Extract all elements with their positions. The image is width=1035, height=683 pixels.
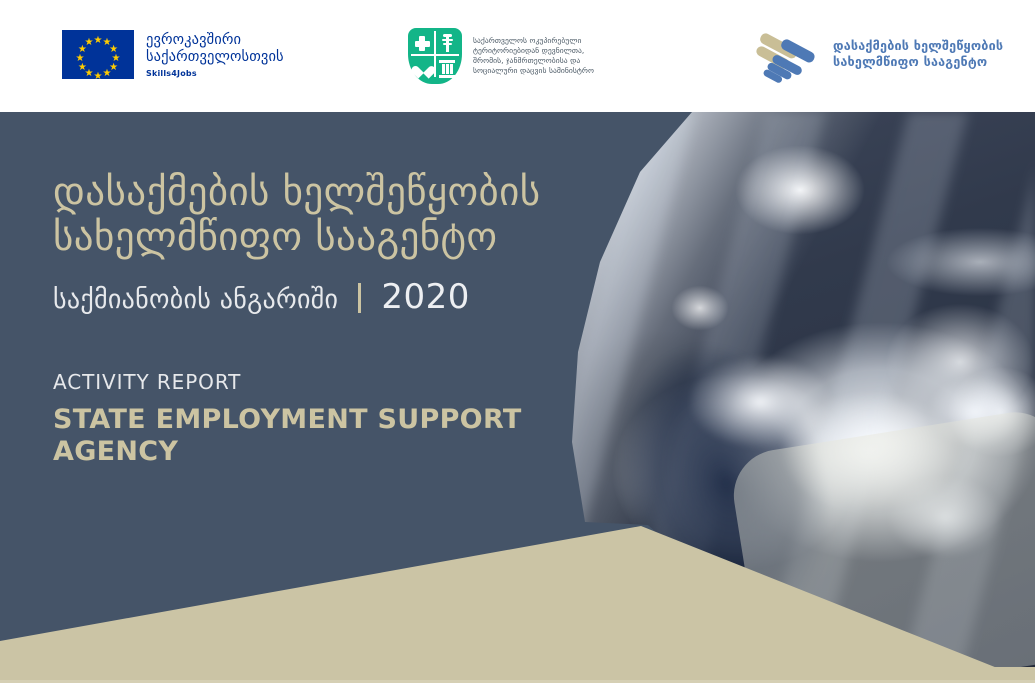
ministry-line-1: საქართველოს ოკუპირებული [473, 36, 594, 46]
handshake-icon [755, 27, 821, 81]
ministry-line-4: სოციალური დაცვის სამინისტრო [473, 66, 594, 76]
ministry-logo: საქართველოს ოკუპირებული ტერიტორიებიდან დ… [408, 28, 594, 84]
report-year: 2020 [381, 281, 470, 313]
eu-line-1: ევროკავშირი [146, 32, 284, 49]
pillar-icon [439, 60, 455, 63]
subtitle-en: ACTIVITY REPORT [53, 369, 613, 395]
ministry-line-3: შრომის, ჯანმრთელობისა და [473, 56, 594, 66]
agency-line-1: დასაქმების ხელშეწყობის [833, 38, 1003, 54]
logo-bar: ★ ★ ★ ★ ★ ★ ★ ★ ★ ★ ★ ★ ევროკავშირი საქა… [0, 0, 1035, 112]
subtitle-ka: საქმიანობის ანგარიში [53, 284, 338, 316]
hero-text-block: დასაქმების ხელშეწყობის სახელმწიფო სააგენ… [53, 170, 613, 468]
eu-line-2: საქართველოსთვის [146, 49, 284, 66]
eu-tagline: Skills4Jobs [146, 69, 284, 78]
title-ka-line-2: სახელმწიფო სააგენტო [53, 215, 613, 260]
heart-icon [416, 61, 431, 75]
subtitle-divider [358, 283, 361, 313]
agency-logo-text: დასაქმების ხელშეწყობის სახელმწიფო სააგენ… [833, 38, 1003, 70]
title-en: STATE EMPLOYMENT SUPPORT AGENCY [53, 404, 553, 468]
subtitle-year-row: საქმიანობის ანგარიში 2020 [53, 278, 613, 316]
title-en-line-1: STATE EMPLOYMENT SUPPORT [53, 404, 522, 435]
title-en-line-2: AGENCY [53, 436, 178, 467]
eu-logo: ★ ★ ★ ★ ★ ★ ★ ★ ★ ★ ★ ★ ევროკავშირი საქა… [62, 30, 284, 79]
english-title-block: ACTIVITY REPORT STATE EMPLOYMENT SUPPORT… [53, 369, 613, 468]
eu-logo-text: ევროკავშირი საქართველოსთვის Skills4Jobs [146, 32, 284, 78]
agency-line-2: სახელმწიფო სააგენტო [833, 54, 1003, 70]
ministry-shield-icon [408, 28, 462, 84]
ministry-logo-text: საქართველოს ოკუპირებული ტერიტორიებიდან დ… [473, 36, 594, 77]
hero-section: დასაქმების ხელშეწყობის სახელმწიფო სააგენ… [0, 112, 1035, 683]
ministry-line-2: ტერიტორიებიდან დევნილთა, [473, 46, 594, 56]
agency-logo: დასაქმების ხელშეწყობის სახელმწიფო სააგენ… [755, 27, 1003, 81]
eu-flag-icon: ★ ★ ★ ★ ★ ★ ★ ★ ★ ★ ★ ★ [62, 30, 134, 79]
report-cover-page: ★ ★ ★ ★ ★ ★ ★ ★ ★ ★ ★ ★ ევროკავშირი საქა… [0, 0, 1035, 683]
title-ka-line-1: დასაქმების ხელშეწყობის [53, 170, 613, 215]
